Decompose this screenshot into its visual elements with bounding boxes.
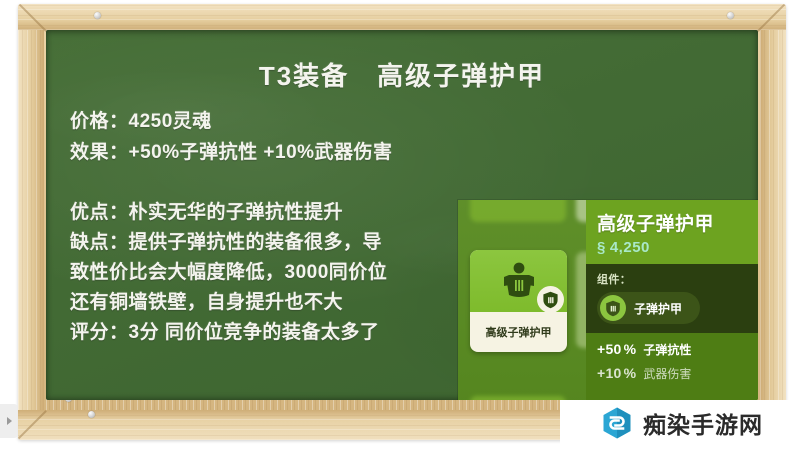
review-text-block: 优点：朴实无华的子弹抗性提升 缺点：提供子弹抗性的装备很多，导 致性价比会大幅度… (70, 198, 387, 348)
item-tile-component-badge (537, 286, 564, 313)
stats-text-block: 价格：4250灵魂 效果：+50%子弹抗性 +10%武器伤害 (70, 106, 393, 168)
bullet-shield-icon (542, 291, 559, 309)
cons-line-1: 缺点：提供子弹抗性的装备很多，导 (70, 228, 387, 258)
component-name: 子弹护甲 (634, 300, 682, 317)
cons-line-2: 致性价比会大幅度降低，3000同价位 (70, 258, 387, 288)
item-tile-blurred (470, 200, 566, 222)
component-chip[interactable]: 子弹护甲 (597, 292, 700, 324)
page-title: T3装备 高级子弹护甲 (46, 56, 758, 93)
price-line: 价格：4250灵魂 (70, 106, 393, 137)
tooltip-price-value: 4,250 (610, 239, 650, 256)
frame-screw (88, 411, 95, 418)
shield-icon (600, 295, 626, 321)
chalkboard-surface: T3装备 高级子弹护甲 价格：4250灵魂 效果：+50%子弹抗性 +10%武器… (46, 30, 758, 400)
components-label: 组件： (597, 271, 758, 287)
site-logo-icon (600, 406, 634, 440)
armor-vest-icon (500, 261, 538, 301)
pros-line: 优点：朴实无华的子弹抗性提升 (70, 198, 387, 228)
stat-name: 子弹抗性 (643, 341, 691, 358)
rating-line: 评分：3分 同价位竞争的装备太多了 (70, 318, 387, 348)
stat-value: +50 (597, 341, 622, 357)
screenshot-root: T3装备 高级子弹护甲 价格：4250灵魂 效果：+50%子弹抗性 +10%武器… (0, 0, 800, 450)
frame-side-left (18, 4, 44, 440)
chevron-right-icon (7, 417, 12, 425)
frame-side-right (760, 4, 786, 440)
edge-next-button[interactable] (0, 404, 18, 438)
effect-line: 效果：+50%子弹抗性 +10%武器伤害 (70, 137, 393, 168)
item-tooltip: 高级子弹护甲 § 4,250 组件： (586, 200, 758, 400)
frame-screw (94, 12, 101, 19)
tooltip-stats: +50 % 子弹抗性 +10 % 武器伤害 (586, 333, 758, 382)
chalkboard: T3装备 高级子弹护甲 价格：4250灵魂 效果：+50%子弹抗性 +10%武器… (18, 4, 786, 440)
tooltip-item-name: 高级子弹护甲 (597, 209, 758, 236)
item-tile-selected[interactable]: 高级子弹护甲 (470, 250, 567, 352)
stat-unit: % (624, 341, 637, 357)
stat-row: +50 % 子弹抗性 (597, 341, 758, 358)
stat-row: +10 % 武器伤害 (597, 365, 758, 382)
item-tile-label: 高级子弹护甲 (470, 312, 567, 352)
tooltip-components-section: 组件： 子弹护甲 (586, 264, 758, 333)
stat-value: +10 (597, 365, 622, 381)
tooltip-header: 高级子弹护甲 § 4,250 (586, 200, 758, 264)
watermark: 痴染手游网 (600, 406, 763, 440)
stat-unit: % (624, 365, 637, 381)
item-tile-blurred (470, 396, 566, 400)
watermark-text: 痴染手游网 (643, 406, 763, 440)
stat-name: 武器伤害 (643, 365, 691, 382)
soul-currency-icon: § (597, 240, 606, 255)
frame-screw (727, 12, 734, 19)
item-grid-column: 高级子弹护甲 (458, 200, 586, 400)
tooltip-price: § 4,250 (597, 239, 758, 256)
game-screenshot: 高级子弹护甲 高级子弹护甲 § 4,250 组件： (458, 200, 758, 400)
frame-side-top (18, 4, 786, 30)
cons-line-3: 还有铜墙铁壁，自身提升也不大 (70, 288, 387, 318)
